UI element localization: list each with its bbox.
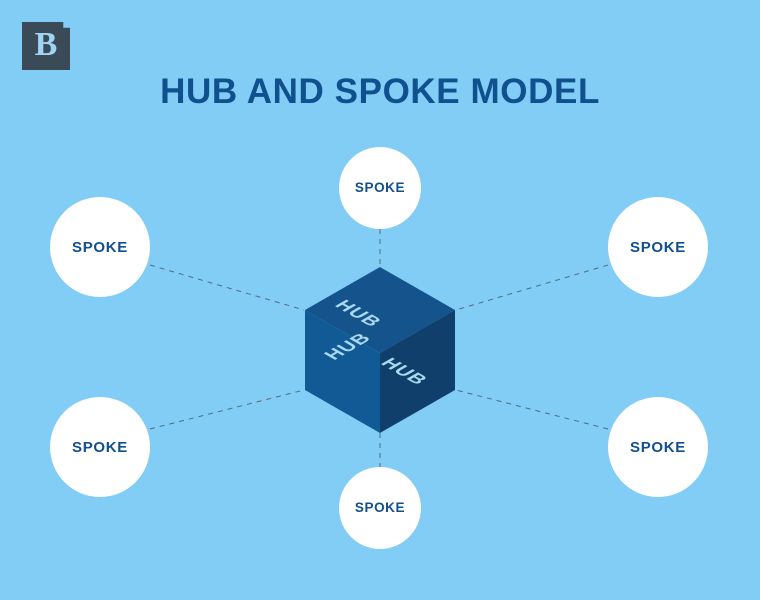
connector-left-lower (150, 390, 304, 429)
connector-right-lower (456, 390, 608, 429)
spoke-node-bottom[interactable]: SPOKE (339, 467, 421, 549)
connector-left-upper (150, 265, 304, 310)
infographic-canvas: B HUB AND SPOKE MODEL (0, 0, 760, 600)
spoke-node-left-upper[interactable]: SPOKE (50, 197, 150, 297)
spoke-label: SPOKE (355, 501, 405, 515)
spoke-node-top[interactable]: SPOKE (339, 147, 421, 229)
spoke-node-right-lower[interactable]: SPOKE (608, 397, 708, 497)
spoke-label: SPOKE (630, 440, 686, 455)
hub-and-spoke-diagram: HUB HUB HUB SPOKE SPOKE SPOKE SPOKE SPOK… (0, 0, 760, 600)
spoke-label: SPOKE (72, 440, 128, 455)
spoke-node-left-lower[interactable]: SPOKE (50, 397, 150, 497)
spoke-label: SPOKE (72, 240, 128, 255)
spoke-label: SPOKE (630, 240, 686, 255)
spoke-label: SPOKE (355, 181, 405, 195)
spoke-node-right-upper[interactable]: SPOKE (608, 197, 708, 297)
hub-cube: HUB HUB HUB (303, 265, 457, 435)
hub-cube-faces (303, 265, 457, 435)
connector-right-upper (456, 265, 608, 310)
